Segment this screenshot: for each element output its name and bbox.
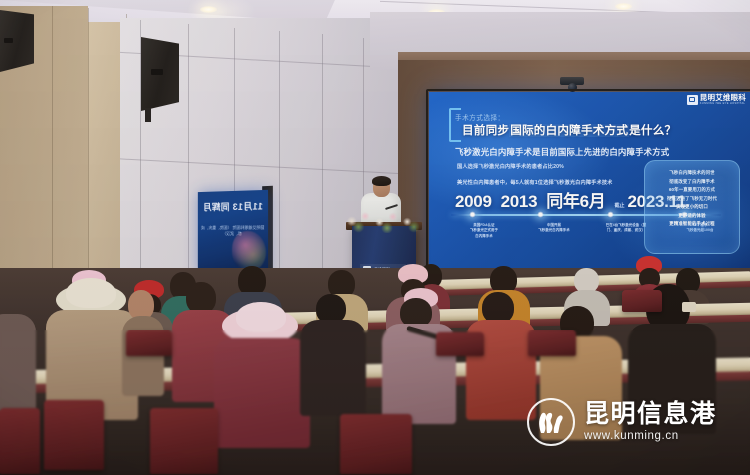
chair-back-4 [622,290,662,312]
kunming-horse-logo-icon [527,398,575,446]
side-display: 11月13 同辉月 昆明艾维眼科医院 （医院、重庆、成都、武汉） [198,190,268,276]
watermark-en: www.kunming.cn [584,431,717,443]
speaker-port-center [151,69,163,75]
slide-callout-panel: 飞秒白内障技术的问世 彻底改变了白内障手术 60年一直要用刀的方式 彻底迈进了飞… [644,160,740,254]
person-body [300,320,366,416]
slide-title-highlight: 国际的白内障手术方式 [509,124,629,137]
chair-1 [44,400,104,470]
timeline-year-2: 2013 [501,192,538,212]
speaker-mount-stem [145,108,151,122]
eye-logo-icon [687,95,698,105]
slide-title-part1: 目前同步 [462,124,509,137]
main-presentation-screen: 昆明艾维眼科 KUNMING IWE EYE HOSPITAL 手术方式选择： … [429,92,750,278]
wall-speaker-center [141,37,179,111]
slide-title-part2: 是什么？ [629,124,676,137]
ceiling-camera-icon [560,77,584,85]
timeline-node-2 [537,211,544,218]
chair-back-1 [126,330,172,356]
downlight-1 [200,6,217,13]
slide-hospital-logo: 昆明艾维眼科 KUNMING IWE EYE HOSPITAL [687,94,746,105]
chair-back-3 [528,330,576,356]
slide-bullet-2: 美光性白内障患者中，每5人就有1位选择飞秒激光白内障手术技术 [457,179,613,186]
person-body [122,316,164,396]
timeline-prefix-4: 截止 [615,202,625,209]
watermark: 昆明信息港 www.kunming.cn [527,398,717,446]
person-hair-clip [682,302,696,312]
chair-back-2 [436,332,484,356]
side-display-title: 11月13 同辉月 [198,199,268,213]
person-hat [66,278,116,308]
callout-line-6: 更舒适的体验 [650,212,734,221]
person-hat [236,302,286,332]
chair-4 [0,408,40,474]
speaker-port-left [4,38,13,43]
callout-line-5: 实现更小的切口 [650,203,734,212]
watermark-cn: 昆明信息港 [584,402,717,427]
person-body [214,338,310,448]
presenter-hair [372,176,391,186]
callout-line-1: 飞秒白内障技术的问世 [650,169,734,178]
slide-kicker: 手术方式选择： [455,112,505,122]
slide-logo-en: KUNMING IWE EYE HOSPITAL [700,103,746,106]
slide-title: 目前同步国际的白内障手术方式是什么？ [462,122,676,138]
callout-line-3: 60年一直要用刀的方式 [650,186,734,195]
person-body [0,314,36,414]
slide-bullet-1: 国人选择飞秒激光白内障手术的患者占比20% [457,163,613,170]
chair-3 [340,414,412,474]
timeline-node-3 [607,211,614,218]
screenshot-root: 11月13 同辉月 昆明艾维眼科医院 （医院、重庆、成都、武汉） 昆明艾维眼科 … [0,0,750,475]
timeline-year-1: 2009 [455,192,492,212]
timeline-node-1 [469,211,476,218]
conference-room: 11月13 同辉月 昆明艾维眼科医院 （医院、重庆、成都、武汉） 昆明艾维眼科 … [0,0,750,475]
callout-line-7: 更精准智能的手术过程 [650,220,734,229]
podium-flower-arrangement [340,205,424,233]
chair-2 [150,408,218,474]
callout-line-4: 彻底迈进了飞秒无刀时代 [650,195,734,204]
callout-line-2: 彻底改变了白内障手术 [650,178,734,187]
timeline-year-3: 同年6月 [546,187,605,212]
timeline-caption-2: 中国开展 飞秒激光白内障手术 [523,223,585,234]
slide-logo-cn: 昆明艾维眼科 [700,94,746,102]
slide-subtitle: 飞秒激光白内障手术是目前国际上先进的白内障手术方式 [455,146,669,158]
wall-speaker-left [0,10,34,72]
downlight-4 [615,3,632,10]
timeline-caption-1: 美国FDA认证 飞秒激光正式用于 白内障手术 [453,223,515,239]
watermark-text: 昆明信息港 www.kunming.cn [584,402,717,443]
